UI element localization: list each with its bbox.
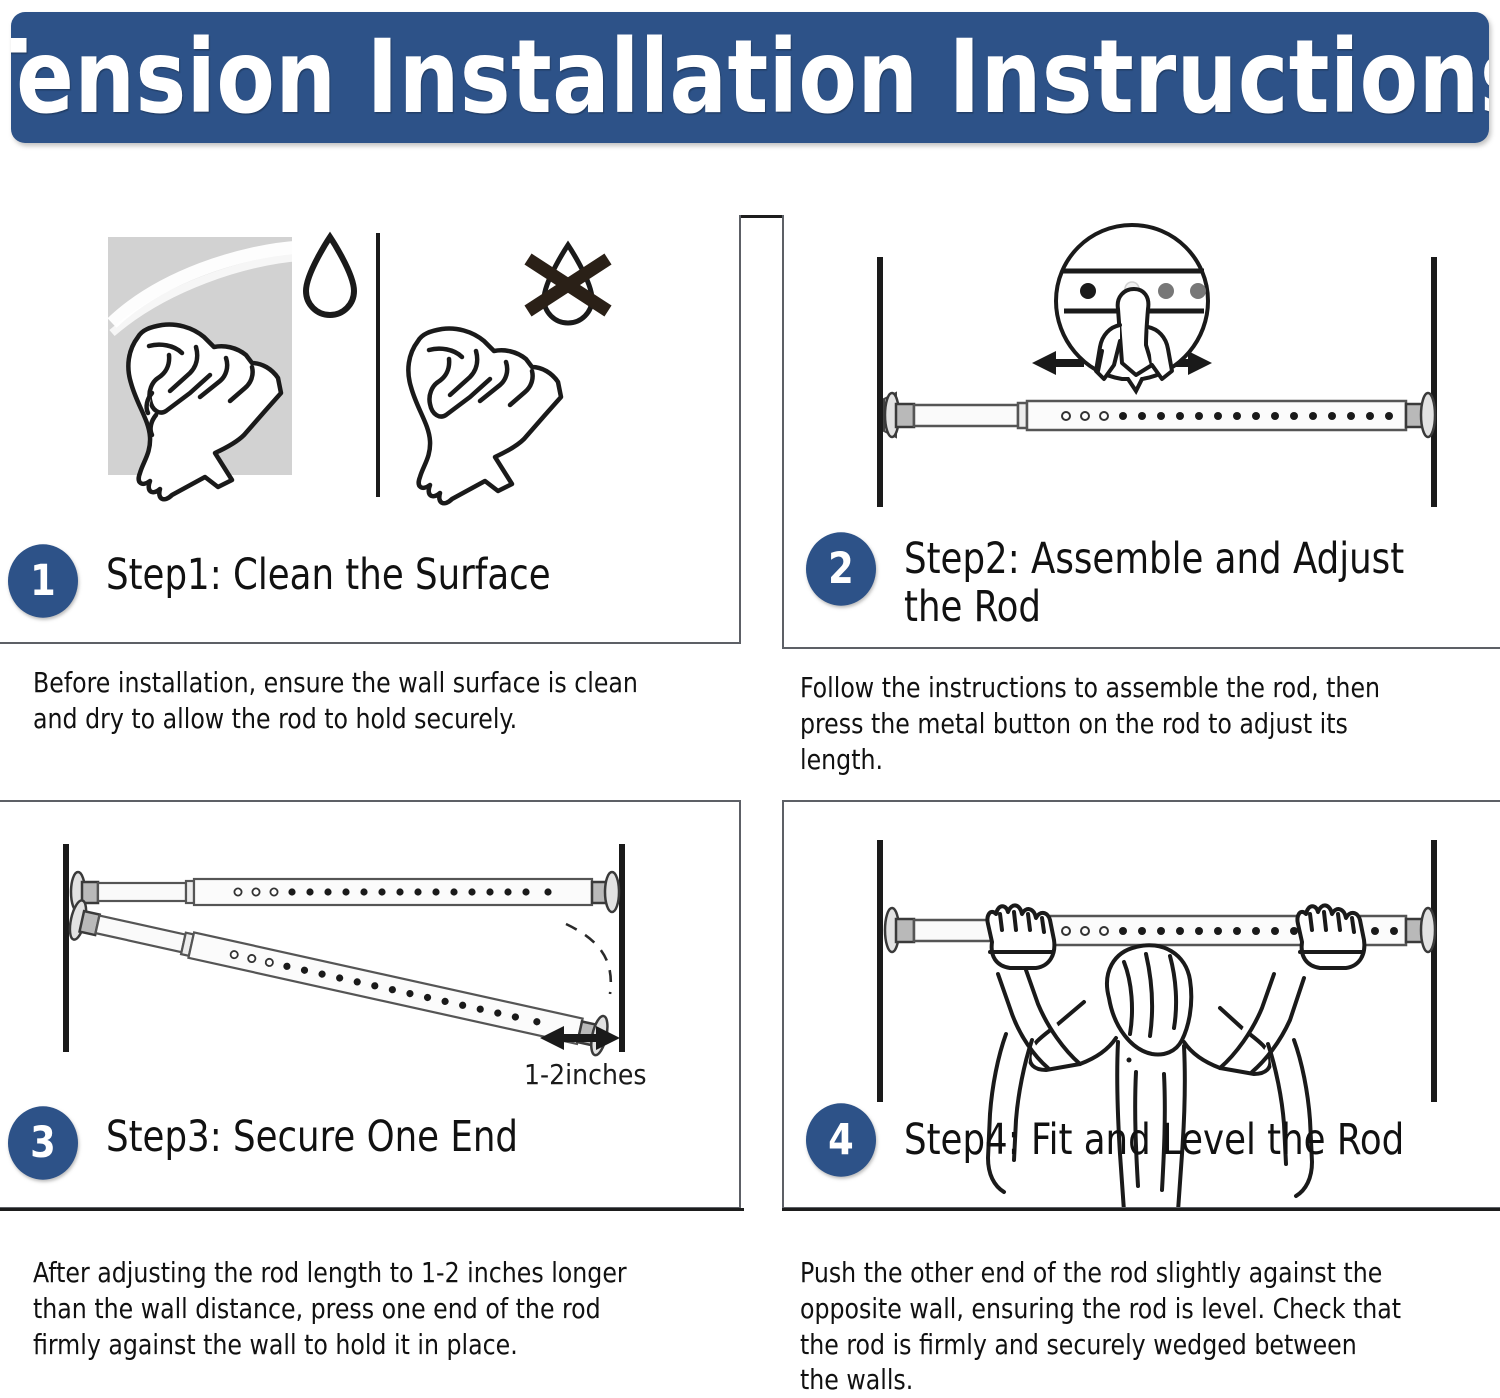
step-3-title-row: 3 Step3: Secure One End <box>8 1107 708 1179</box>
angled-rod <box>67 899 611 1057</box>
step-panel-1: 1 Step1: Clean the Surface Before instal… <box>0 215 744 760</box>
page-title: Tension Installation Instructions <box>11 27 1489 128</box>
right-fist <box>1297 905 1364 968</box>
page-title-banner: Tension Installation Instructions <box>11 12 1489 143</box>
step-panel-4: 4 Step4: Fit and Level the Rod Push the … <box>782 800 1500 1360</box>
step-panel-2: 2 Step2: Assemble and Adjust the Rod Fol… <box>782 215 1500 805</box>
button-hole-gray-2 <box>1190 283 1206 299</box>
step-2-title: Step2: Assemble and Adjust the Rod <box>904 535 1404 631</box>
step-1-badge: 1 <box>8 544 78 617</box>
step-3-title: Step3: Secure One End <box>106 1113 518 1161</box>
step-2-description: Follow the instructions to assemble the … <box>800 670 1450 777</box>
left-fist <box>987 905 1054 968</box>
step-3-illustration-box: 1-2inches 3 Step3: Secure One End <box>0 800 741 1209</box>
tension-rod <box>884 393 1435 437</box>
step-2-title-row: 2 Step2: Assemble and Adjust the Rod <box>806 533 1496 631</box>
level-rod <box>71 872 619 912</box>
clearance-label: 1-2inches <box>524 1058 647 1091</box>
no-water-drop-icon <box>528 245 608 323</box>
step-3-description: After adjusting the rod length to 1-2 in… <box>33 1255 696 1362</box>
step-4-description: Push the other end of the rod slightly a… <box>800 1255 1458 1398</box>
hand-with-cloth-icon-right <box>408 329 561 504</box>
dashed-arc <box>566 924 611 994</box>
step-1-title: Step1: Clean the Surface <box>106 551 551 599</box>
step-3-badge: 3 <box>8 1106 78 1179</box>
step-panel-3: 1-2inches 3 Step3: Secure One End After … <box>0 800 744 1360</box>
button-hole-dark-1 <box>1080 283 1096 299</box>
step-4-badge: 4 <box>806 1103 876 1176</box>
row2-divider-rule-left <box>0 1208 744 1211</box>
step-4-illustration-box: 4 Step4: Fit and Level the Rod <box>782 800 1500 1209</box>
step-1-description: Before installation, ensure the wall sur… <box>33 665 696 737</box>
step-1-illustration-box: 1 Step1: Clean the Surface <box>0 215 741 644</box>
step-1-description-wrapper: Before installation, ensure the wall sur… <box>33 665 738 737</box>
step-3-description-wrapper: After adjusting the rod length to 1-2 in… <box>33 1255 738 1362</box>
button-hole-gray-1 <box>1158 283 1174 299</box>
step-4-title-row: 4 Step4: Fit and Level the Rod <box>806 1104 1496 1176</box>
step-2-badge: 2 <box>806 532 876 605</box>
step-4-description-wrapper: Push the other end of the rod slightly a… <box>800 1255 1500 1398</box>
step-2-illustration-box: 2 Step2: Assemble and Adjust the Rod <box>782 215 1500 649</box>
step-4-title: Step4: Fit and Level the Rod <box>904 1116 1404 1164</box>
step-1-title-row: 1 Step1: Clean the Surface <box>8 545 708 617</box>
row2-divider-rule-right <box>782 1208 1500 1211</box>
step-2-description-wrapper: Follow the instructions to assemble the … <box>800 670 1492 777</box>
